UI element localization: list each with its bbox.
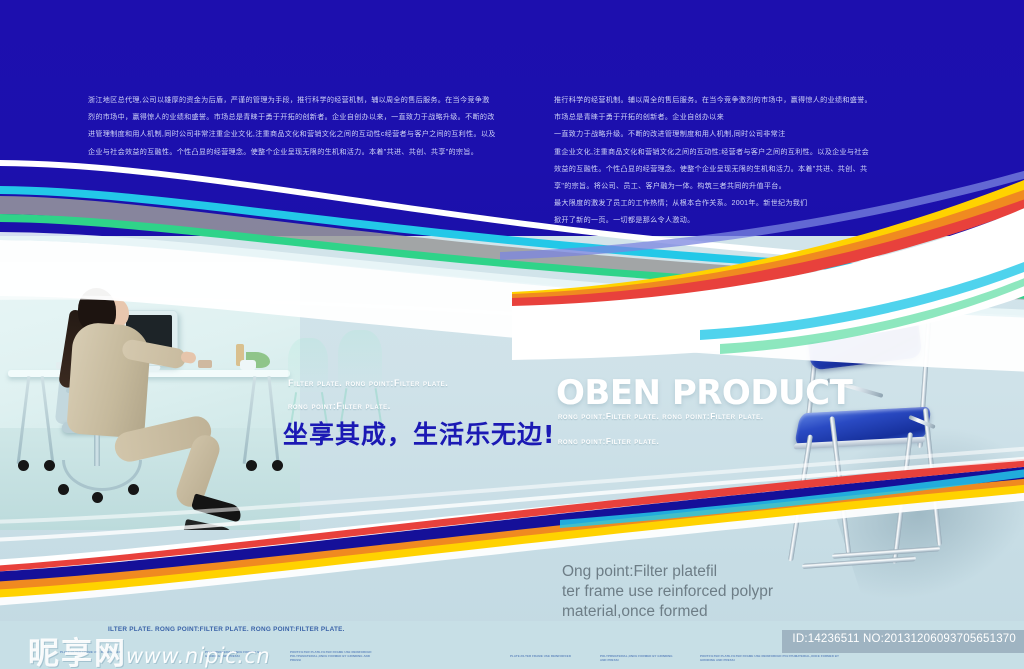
right-column-line: 最大限度的激发了员工的工作热情；从根本合作关系。2001年。新世纪为我们 xyxy=(554,195,884,212)
watermark-site-name: 昵享网 xyxy=(28,628,127,669)
product-description-line: ter frame use reinforced polypr xyxy=(562,582,773,602)
product-subtitle-block: rong point:Filter plate. rong point:Filt… xyxy=(558,412,764,446)
center-slogan: 坐享其成，生活乐无边! xyxy=(283,415,555,451)
product-heading: OBEN PRODUCT xyxy=(556,373,852,413)
image-id-badge: ID:14236511 NO:20131206093705651370 xyxy=(782,630,1024,653)
bottom-fine-print: PLATE.FILTER FRAME USE REINFORCED xyxy=(510,654,586,658)
center-eyebrow-block: Filter plate. rong point:Filter plate. r… xyxy=(288,378,448,411)
product-sub-line-1: rong point:Filter plate. rong point:Filt… xyxy=(558,412,764,421)
watermark: 昵享网 www.nipic.cn xyxy=(28,624,328,668)
center-eyebrow-line-2: rong point:Filter plate. xyxy=(288,401,448,411)
right-column-line: 推行科学的经营机制。辅以周全的售后服务。在当今竞争激烈的市场中，赢得惊人的业绩和… xyxy=(554,92,884,109)
right-column-line: 效益的互融性。个性凸显的经营理念。使整个企业呈现无限的生机和活力。本着"共进、共… xyxy=(554,161,884,178)
center-eyebrow-line-1: Filter plate. rong point:Filter plate. xyxy=(288,378,448,388)
product-sub-line-2: rong point:Filter plate. xyxy=(558,437,764,446)
right-column-line: 市场总是青睐于勇于开拓的创新者。企业自创办以来 xyxy=(554,109,884,126)
watermark-url: www.nipic.cn xyxy=(126,644,270,668)
bottom-fine-print: PONT:FILTER PLATE.FILTER FRAME USE REINF… xyxy=(700,654,850,662)
right-column-line: 重企业文化,注重商品文化和营销文化之间的互动性;经营者与客户之间的互利性。以及企… xyxy=(554,144,884,161)
brochure-spread: 浙江地区总代理,公司以雄厚的资金为后盾，严谨的管理为手段，推行科学的经营机制，辅… xyxy=(0,0,1024,669)
bottom-fine-print: POLYPRMATERIAL,ONCE FORMED BY GRINDING A… xyxy=(600,654,676,662)
right-column-line: 一直致力于战略升级。不断的改进管理制度和用人机制,同时公司非常注 xyxy=(554,126,884,143)
product-description-line: Ong point:Filter platefil xyxy=(562,562,773,582)
right-column-paragraph: 推行科学的经营机制。辅以周全的售后服务。在当今竞争激烈的市场中，赢得惊人的业绩和… xyxy=(554,92,884,230)
right-column-line: 掀开了新的一页。一切都是那么令人激动。 xyxy=(554,212,884,229)
left-column-paragraph: 浙江地区总代理,公司以雄厚的资金为后盾，严谨的管理为手段，推行科学的经营机制，辅… xyxy=(88,92,496,161)
product-description-line: material,once formed xyxy=(562,602,773,622)
right-column-line: 享"的宗旨。将公司、员工、客户融为一体。构筑三者共同的升值平台。 xyxy=(554,178,884,195)
